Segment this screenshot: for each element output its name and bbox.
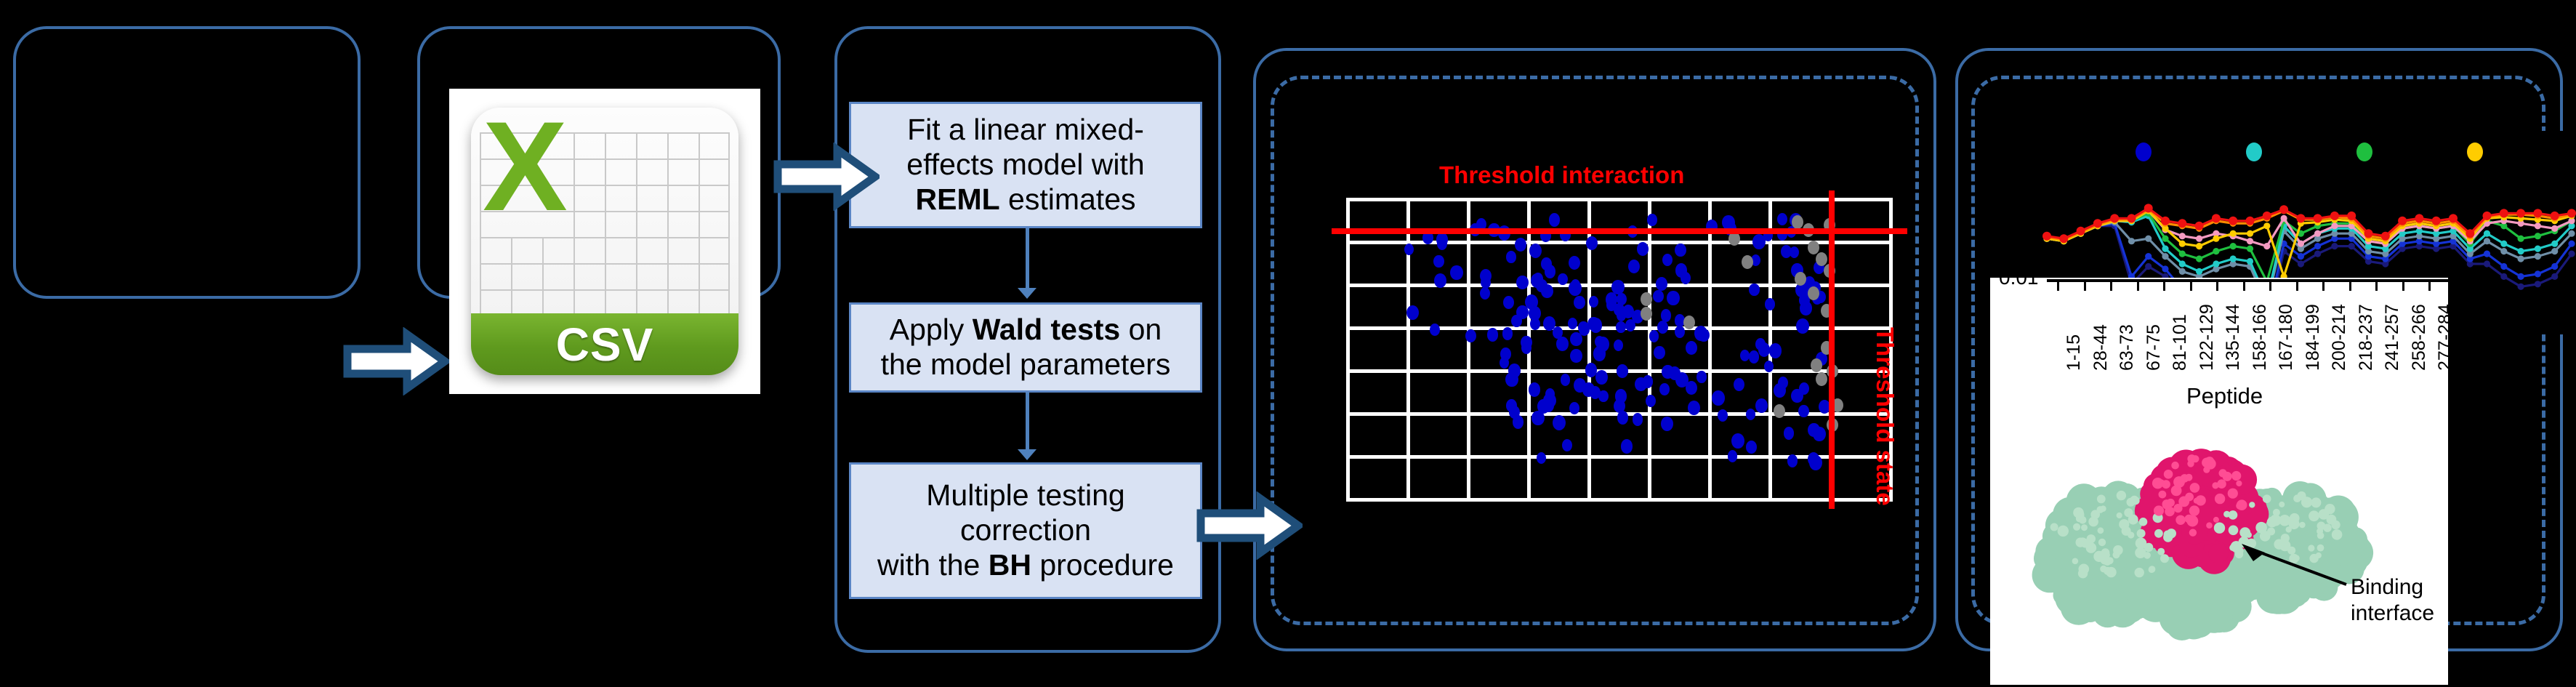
peptide-tick-label: 135-144 — [2223, 304, 2244, 371]
peptide-series-marker — [2093, 219, 2102, 228]
structure-surface-blob — [2237, 499, 2247, 510]
volcano-point — [1800, 301, 1812, 316]
structure-surface-blob — [2162, 501, 2171, 510]
peptide-x-tick — [2428, 282, 2431, 291]
volcano-point — [1480, 269, 1492, 283]
peptide-series-marker — [2162, 246, 2168, 252]
structure-surface-blob — [2316, 553, 2322, 558]
peptide-series-marker — [2568, 251, 2575, 257]
reml-l1: Fit a linear mixed- — [907, 113, 1144, 146]
peptide-series-marker — [2500, 263, 2507, 270]
threshold-state-line — [1829, 190, 1835, 509]
volcano-point — [1784, 427, 1795, 440]
peptide-series-marker — [2246, 217, 2255, 225]
volcano-point — [1621, 439, 1633, 453]
structure-surface-blob — [2215, 494, 2225, 504]
peptide-tick-label: 241-257 — [2382, 304, 2403, 371]
peptide-series-marker — [2535, 281, 2541, 287]
structure-surface-blob — [2162, 480, 2170, 489]
peptide-series-marker — [2179, 268, 2186, 275]
volcano-point — [1430, 324, 1440, 336]
structure-surface-blob — [2217, 479, 2226, 489]
csv-file-icon: X CSV — [449, 89, 760, 394]
structure-surface-blob — [2323, 524, 2331, 532]
volcano-point — [1661, 417, 1673, 431]
peptide-series-marker — [2314, 214, 2322, 222]
peptide-series-marker — [2162, 253, 2168, 260]
structure-surface-blob — [2149, 566, 2155, 572]
volcano-point — [1614, 340, 1623, 351]
volcano-point — [1740, 350, 1750, 361]
threshold-interaction-line — [1332, 228, 1907, 234]
legend-dot — [2356, 142, 2372, 161]
peptide-series-marker — [2213, 248, 2219, 254]
structure-surface-blob — [2286, 526, 2292, 532]
peptide-x-axis — [2047, 279, 2448, 282]
csv-label-band: CSV — [471, 313, 738, 375]
structure-surface-blob — [2078, 537, 2088, 547]
peptide-tick-label: 67-75 — [2144, 324, 2165, 371]
volcano-point — [1502, 327, 1513, 340]
peptide-series-marker — [2110, 214, 2119, 222]
volcano-point — [1649, 330, 1659, 342]
volcano-point — [1589, 296, 1598, 308]
structure-surface-blob — [2185, 582, 2213, 611]
volcano-point — [1787, 454, 1798, 467]
structure-surface-blob — [2113, 551, 2120, 558]
wald-post: on — [1120, 313, 1162, 346]
volcano-point — [1595, 336, 1604, 347]
structure-surface-blob — [2167, 529, 2176, 538]
volcano-point — [1553, 415, 1566, 430]
volcano-gridline-h — [1346, 498, 1893, 502]
structure-surface-blob — [2079, 564, 2090, 575]
peptide-x-tick — [2296, 282, 2298, 291]
structure-surface-blob — [2185, 474, 2192, 481]
peptide-tick-label: 1-15 — [2064, 334, 2085, 371]
volcano-point — [1669, 366, 1681, 380]
peptide-series-marker — [2162, 236, 2168, 242]
peptide-series-marker — [2551, 263, 2558, 270]
structure-surface-blob — [2311, 497, 2321, 507]
threshold-interaction-label: Threshold interaction — [1439, 161, 1684, 189]
peptide-series-marker — [2213, 236, 2219, 242]
structure-surface-blob — [2137, 529, 2146, 538]
volcano-gridline-h — [1346, 198, 1893, 201]
structure-surface-blob — [2171, 462, 2179, 470]
structure-surface-blob — [2229, 510, 2238, 520]
structure-surface-blob — [2178, 497, 2189, 507]
peptide-tick-label: 200-214 — [2329, 304, 2350, 371]
structure-surface-blob — [2135, 547, 2146, 558]
peptide-x-tick — [2190, 282, 2192, 291]
peptide-series-marker — [2195, 222, 2204, 230]
peptide-series-marker — [2059, 234, 2068, 243]
peptide-series-marker — [2518, 236, 2524, 242]
peptide-series-marker — [2518, 273, 2524, 280]
connector-2-3 — [1026, 393, 1029, 451]
volcano-point — [1657, 321, 1668, 334]
structure-surface-blob — [2267, 517, 2278, 528]
structure-surface-blob — [2100, 566, 2107, 573]
peptide-series-marker — [2484, 251, 2490, 257]
bh-l1: Multiple testing — [926, 478, 1124, 512]
peptide-series-marker — [2535, 270, 2541, 277]
peptide-series-marker — [2042, 232, 2051, 241]
structure-surface-blob — [2106, 567, 2116, 577]
peptide-series-marker — [2484, 230, 2490, 237]
volcano-point — [1437, 238, 1447, 250]
peptide-series-marker — [2196, 243, 2202, 249]
volcano-point — [1675, 244, 1686, 257]
peptide-series-marker — [2535, 253, 2541, 260]
volcano-point — [1728, 450, 1738, 462]
structure-surface-blob — [2154, 529, 2163, 538]
structure-surface-blob — [2229, 526, 2239, 536]
volcano-point — [1529, 306, 1541, 321]
peptide-series-marker — [2128, 238, 2135, 244]
volcano-point — [1694, 326, 1707, 341]
volcano-point-nonsignificant — [1742, 255, 1753, 269]
structure-surface-blob — [2186, 515, 2198, 527]
y-axis-tick-label: 0.01 — [1999, 278, 2039, 289]
structure-surface-blob — [2098, 527, 2104, 534]
flow-step-wald: Apply Wald tests on the model parameters — [849, 302, 1202, 393]
peptide-x-tick — [2402, 282, 2404, 291]
volcano-point-nonsignificant — [1811, 358, 1822, 372]
peptide-series-marker — [2500, 248, 2507, 254]
volcano-point — [1543, 316, 1555, 331]
volcano-point-nonsignificant — [1816, 372, 1827, 386]
volcano-point — [1718, 409, 1728, 422]
structure-surface-blob — [2279, 540, 2290, 551]
volcano-point — [1686, 341, 1697, 355]
volcano-point — [1433, 255, 1444, 268]
peptide-tick-label: 277-284 — [2435, 304, 2448, 371]
structure-surface-blob — [2219, 469, 2227, 477]
structure-surface-blob — [2309, 510, 2319, 521]
wald-pre: Apply — [890, 313, 973, 346]
connector-1-2 — [1026, 228, 1029, 289]
volcano-point — [1521, 336, 1531, 349]
peptide-series-marker — [2196, 236, 2202, 242]
peptide-series-marker — [2230, 243, 2237, 249]
structure-surface-blob — [2173, 476, 2185, 488]
reml-bold: REML — [916, 182, 1000, 216]
structure-surface-blob — [2087, 534, 2096, 543]
peptide-series-marker — [2196, 268, 2202, 275]
volcano-point — [1686, 381, 1697, 395]
peptide-series-marker — [2568, 241, 2575, 247]
structure-surface-blob — [2246, 532, 2252, 538]
peptide-series-marker — [2331, 243, 2338, 249]
volcano-point-nonsignificant — [1816, 252, 1827, 266]
peptide-series-marker — [2432, 217, 2441, 225]
volcano-point — [1515, 238, 1526, 252]
legend-dot — [2246, 142, 2262, 161]
structure-surface-blob — [2279, 502, 2285, 507]
bh-pre: with the — [877, 548, 989, 582]
structure-surface-blob — [2213, 517, 2219, 523]
volcano-point — [1617, 364, 1628, 378]
peptide-series-marker — [2314, 251, 2321, 257]
volcano-point — [1646, 395, 1656, 407]
peptide-series-marker — [2449, 214, 2458, 222]
volcano-point — [1406, 305, 1419, 320]
arrow-3 — [1196, 491, 1303, 560]
volcano-point — [1675, 326, 1685, 338]
flow-step-reml-real: Fit a linear mixed- effects model with R… — [849, 102, 1202, 228]
structure-surface-blob — [2144, 543, 2153, 552]
structure-surface-blob — [2074, 577, 2095, 598]
structure-surface-blob — [2293, 494, 2301, 502]
structure-surface-blob — [2117, 513, 2122, 518]
structure-surface-blob — [2160, 554, 2169, 563]
peptide-x-tick — [2057, 282, 2059, 291]
structure-surface-blob — [2117, 491, 2126, 500]
peptide-series-marker — [2551, 273, 2558, 280]
peptide-series-marker — [2551, 212, 2559, 220]
structure-surface-blob — [2058, 526, 2069, 537]
volcano-point — [1746, 441, 1757, 454]
structure-surface-blob — [2214, 523, 2225, 534]
volcano-point — [1791, 389, 1803, 403]
structure-surface-blob — [2081, 524, 2088, 531]
peptide-series-marker — [2263, 222, 2270, 229]
peptide-x-tick — [2269, 282, 2271, 291]
peptide-series-marker — [2230, 230, 2237, 237]
peptide-x-tick — [2243, 282, 2245, 291]
reml-l3: estimates — [1000, 182, 1136, 216]
volcano-point — [1777, 213, 1787, 225]
wald-l2: the model parameters — [881, 347, 1171, 381]
peptide-series-marker — [2551, 225, 2558, 232]
structure-surface-blob — [2175, 515, 2185, 525]
structure-surface-blob — [2189, 529, 2197, 537]
volcano-point — [1531, 411, 1545, 426]
peptide-series-marker — [2263, 212, 2271, 220]
volcano-point — [1529, 382, 1541, 397]
peptide-series-marker — [2229, 217, 2237, 225]
peptide-x-tick — [2322, 282, 2325, 291]
volcano-point — [1480, 287, 1491, 300]
peptide-series-marker — [2179, 233, 2186, 239]
peptide-tick-label: 158-166 — [2250, 304, 2271, 371]
volcano-point — [1450, 265, 1462, 280]
volcano-point — [1781, 245, 1792, 258]
bh-post: procedure — [1031, 548, 1174, 582]
structure-surface-blob — [2159, 491, 2167, 499]
structure-surface-blob — [2190, 483, 2200, 493]
volcano-point — [1562, 439, 1572, 451]
peptide-series-marker — [2518, 255, 2524, 262]
peptide-series-marker — [2298, 260, 2304, 267]
volcano-point — [1734, 378, 1744, 391]
peptide-series-marker — [2128, 214, 2136, 222]
structure-surface-blob — [2098, 539, 2106, 546]
peptide-series-marker — [2077, 227, 2085, 236]
connector-arrowhead-2 — [1018, 449, 1037, 460]
structure-surface-blob — [2106, 557, 2114, 564]
binding-label-line2: interface — [2351, 600, 2434, 627]
structure-surface-blob — [2097, 495, 2106, 504]
peptide-tick-label: 63-73 — [2117, 324, 2138, 371]
wald-bold: Wald tests — [973, 313, 1121, 346]
peptide-series-marker — [2213, 260, 2219, 267]
bh-bold: BH — [989, 548, 1031, 582]
peptide-series-marker — [2230, 255, 2237, 262]
peptide-series-marker — [2296, 214, 2305, 222]
peptide-series-marker — [2145, 263, 2152, 270]
volcano-point — [1569, 402, 1579, 414]
volcano-point — [1465, 329, 1476, 342]
volcano-point — [1758, 342, 1770, 356]
volcano-point — [1755, 398, 1768, 413]
peptide-series-marker — [2247, 246, 2253, 252]
volcano-point — [1506, 251, 1516, 263]
structure-surface-blob — [2249, 502, 2255, 507]
volcano-point — [1574, 296, 1585, 309]
arrow-1 — [343, 327, 449, 395]
peptide-tick-label: 28-44 — [2090, 324, 2112, 371]
structure-surface-blob — [2189, 505, 2199, 515]
peptide-x-tick — [2137, 282, 2139, 291]
volcano-point — [1487, 328, 1499, 342]
peptide-x-axis-title: Peptide — [2186, 383, 2263, 409]
peptide-series-marker — [2314, 230, 2321, 237]
volcano-point — [1796, 318, 1809, 334]
structure-surface-blob — [2308, 545, 2314, 551]
legend-dot — [2467, 142, 2483, 161]
volcano-point — [1731, 433, 1744, 449]
structure-surface-blob — [2139, 518, 2148, 526]
peptide-series-marker — [2535, 233, 2541, 239]
peptide-series-marker — [2415, 214, 2423, 222]
volcano-point — [1617, 293, 1627, 305]
flow-step-bh: Multiple testing correction with the BH … — [849, 462, 1202, 599]
volcano-point — [1595, 370, 1608, 385]
volcano-point — [1616, 321, 1626, 334]
structure-surface-blob — [2235, 547, 2244, 555]
volcano-point-nonsignificant — [1728, 232, 1740, 246]
peptide-series-marker — [2500, 273, 2507, 280]
peptide-series-marker — [2179, 251, 2186, 257]
peptide-series-marker — [2263, 243, 2270, 249]
peptide-tick-label: 81-101 — [2170, 314, 2191, 371]
peptide-series-marker — [2466, 229, 2474, 238]
peptide-series-marker — [2145, 253, 2152, 260]
volcano-point-nonsignificant — [1808, 241, 1819, 254]
structure-surface-blob — [2090, 510, 2100, 519]
volcano-point — [1561, 374, 1571, 386]
peptide-series-marker — [2314, 243, 2321, 249]
peptide-series-marker — [2144, 204, 2153, 212]
peptide-series-marker — [2484, 238, 2490, 244]
excel-x-letter: X — [483, 108, 568, 230]
volcano-point — [1569, 256, 1580, 270]
volcano-point — [1749, 284, 1759, 296]
binding-interface-label: Bindinginterface — [2351, 574, 2434, 627]
volcano-point — [1696, 371, 1707, 383]
structure-surface-blob — [2236, 481, 2242, 486]
structure-surface-blob — [2299, 522, 2306, 529]
peptide-series-marker — [2179, 260, 2186, 267]
peptide-series-marker — [2551, 241, 2558, 247]
volcano-point — [1500, 347, 1511, 361]
volcano-point — [1585, 363, 1597, 377]
volcano-point — [1503, 296, 1514, 309]
peptide-series-marker — [2483, 212, 2492, 220]
peptide-series-marker — [2381, 232, 2390, 241]
peptide-series-marker — [2348, 243, 2355, 249]
structure-surface-blob — [2317, 545, 2325, 552]
structure-surface-blob — [2206, 522, 2213, 529]
volcano-point — [1541, 284, 1553, 298]
structure-surface-blob — [2073, 523, 2080, 531]
volcano-point — [1404, 244, 1414, 255]
volcano-point — [1661, 309, 1671, 321]
volcano-point — [1647, 214, 1657, 225]
peptide-tick-label: 167-180 — [2276, 304, 2297, 371]
peptide-series-marker — [2516, 209, 2525, 217]
peptide-series-marker — [2484, 260, 2490, 267]
volcano-point — [1798, 405, 1808, 417]
structure-surface-blob — [2187, 454, 2196, 463]
peptide-x-tick — [2216, 282, 2218, 291]
structure-surface-blob — [2267, 528, 2275, 536]
connector-arrowhead-1 — [1018, 288, 1037, 299]
volcano-point — [1667, 291, 1679, 305]
volcano-point — [1813, 427, 1825, 441]
volcano-point — [1637, 242, 1649, 256]
volcano-point — [1516, 276, 1529, 290]
volcano-point — [1590, 386, 1601, 399]
peptide-x-tick — [2349, 282, 2351, 291]
peptide-series-marker — [2518, 248, 2524, 254]
volcano-point — [1628, 260, 1640, 273]
volcano-point — [1505, 372, 1518, 387]
arrow-2 — [773, 142, 880, 211]
peptide-series-marker — [2330, 212, 2339, 220]
peptide-series-marker — [2533, 209, 2542, 217]
peptide-series-marker — [2298, 241, 2304, 247]
structure-surface-blob — [2208, 544, 2228, 563]
volcano-point — [1769, 343, 1782, 358]
structure-surface-blob — [2332, 529, 2343, 540]
peptide-series-marker — [2551, 248, 2558, 254]
volcano-point — [1746, 409, 1755, 420]
input-panel — [13, 26, 361, 299]
volcano-point — [1586, 236, 1598, 251]
peptide-series-marker — [2161, 217, 2170, 225]
peptide-series-marker — [2178, 219, 2186, 228]
volcano-point — [1541, 257, 1552, 270]
volcano-point — [1537, 452, 1546, 464]
csv-label-text: CSV — [556, 318, 654, 371]
peptide-tick-label: 122-129 — [2197, 304, 2218, 371]
structure-surface-blob — [2228, 489, 2238, 499]
structure-surface-blob — [2076, 515, 2082, 522]
volcano-point — [1659, 383, 1670, 395]
volcano-point — [1653, 290, 1664, 303]
structure-surface-blob — [2100, 505, 2106, 512]
volcano-point — [1654, 346, 1665, 360]
volcano-point — [1764, 361, 1774, 372]
peptide-tick-label: 184-199 — [2303, 304, 2324, 371]
structure-surface-blob — [2164, 470, 2173, 479]
volcano-point — [1590, 318, 1602, 332]
volcano-point — [1765, 298, 1775, 310]
